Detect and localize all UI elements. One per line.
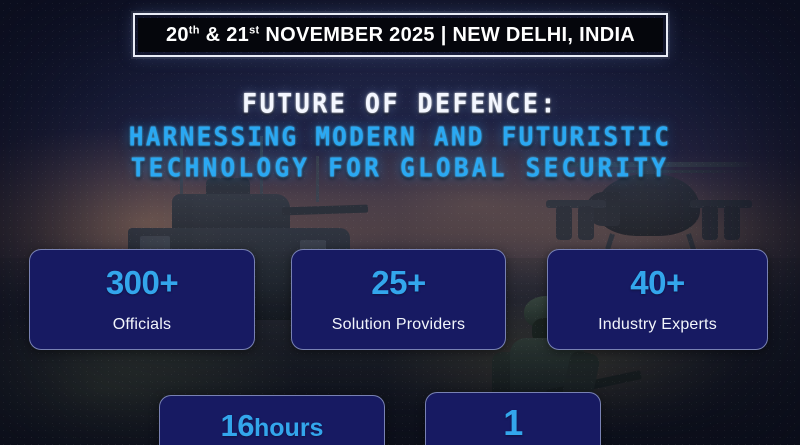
stat-label-officials: Officials [113, 316, 171, 334]
defence-event-poster: 20th & 21st NOVEMBER 2025 | NEW DELHI, I… [0, 0, 800, 445]
stat-card-one: 1 [425, 392, 601, 445]
stat-label-solution-providers: Solution Providers [332, 316, 465, 334]
event-headline: FUTURE OF DEFENCE: HARNESSING MODERN AND… [0, 88, 800, 184]
background-grain [0, 0, 800, 445]
date-location: NOVEMBER 2025 | NEW DELHI, INDIA [259, 24, 635, 46]
event-date-text: 20th & 21st NOVEMBER 2025 | NEW DELHI, I… [166, 24, 635, 47]
stat-number-industry-experts: 40+ [630, 266, 684, 299]
headline-line-3: TECHNOLOGY FOR GLOBAL SECURITY [0, 151, 800, 185]
event-date-banner-inner: 20th & 21st NOVEMBER 2025 | NEW DELHI, I… [138, 18, 663, 52]
stat-number-hours-value: 16 [221, 408, 254, 443]
stat-card-officials: 300+ Officials [29, 249, 255, 350]
stat-number-solution-providers: 25+ [371, 266, 425, 299]
stat-number-hours: 16hours [221, 410, 324, 441]
event-date-banner: 20th & 21st NOVEMBER 2025 | NEW DELHI, I… [133, 13, 668, 57]
stat-number-officials: 300+ [106, 266, 178, 299]
headline-line-2: HARNESSING MODERN AND FUTURISTIC [0, 120, 800, 154]
stat-card-solution-providers: 25+ Solution Providers [291, 249, 506, 350]
stat-card-hours: 16hours [159, 395, 385, 445]
date-join: & 21 [200, 24, 249, 46]
stat-number-one: 1 [503, 405, 523, 441]
date-ordinal-first: th [189, 24, 200, 36]
stat-number-hours-unit: hours [254, 414, 323, 442]
headline-line-1: FUTURE OF DEFENCE: [0, 87, 800, 121]
date-day-first: 20 [166, 24, 189, 46]
date-ordinal-second: st [249, 24, 259, 36]
stat-card-industry-experts: 40+ Industry Experts [547, 249, 768, 350]
stat-label-industry-experts: Industry Experts [598, 316, 717, 334]
